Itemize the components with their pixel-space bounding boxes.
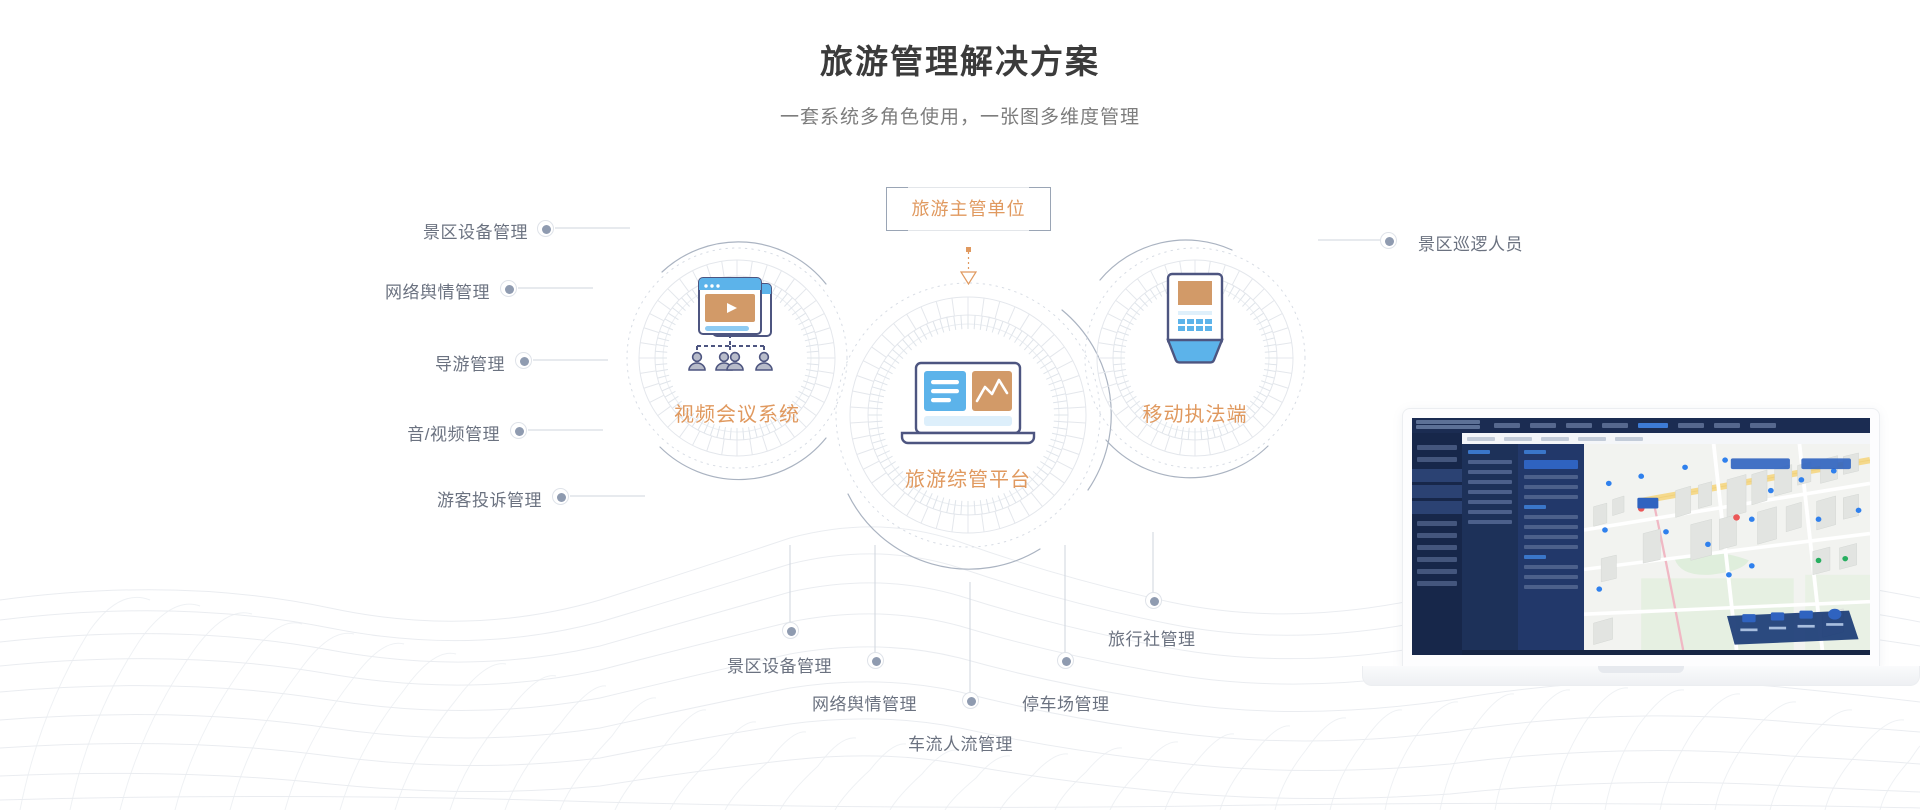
gov-to-platform-arrow — [961, 247, 976, 284]
bracket-top-right-icon — [1029, 187, 1051, 209]
gov-unit-box[interactable]: 旅游主管单位 — [886, 187, 1051, 231]
laptop-lid — [1402, 408, 1880, 670]
bottom-label-0[interactable]: 景区设备管理 — [727, 652, 832, 677]
left-label-3[interactable]: 音/视频管理 — [180, 420, 500, 445]
video-window-icon — [689, 278, 772, 370]
mock-sidebar — [1412, 433, 1462, 655]
left-dot-4[interactable] — [552, 488, 569, 505]
mock-logo — [1416, 420, 1480, 431]
gov-unit-label: 旅游主管单位 — [912, 199, 1026, 219]
ring-label-tourism-platform: 旅游综管平台 — [868, 463, 1068, 492]
laptop-mockup — [1362, 408, 1920, 738]
left-dot-1[interactable] — [500, 280, 517, 297]
left-dot-3[interactable] — [510, 422, 527, 439]
left-dot-2[interactable] — [515, 352, 532, 369]
bottom-dot-1[interactable] — [867, 652, 884, 669]
handheld-device-icon — [1168, 274, 1222, 362]
right-dot-0[interactable] — [1380, 232, 1397, 249]
bracket-bottom-left-icon — [886, 209, 908, 231]
left-label-0[interactable]: 景区设备管理 — [208, 218, 528, 243]
right-label-0[interactable]: 景区巡逻人员 — [1418, 230, 1523, 255]
dashboard-screenshot[interactable] — [1412, 418, 1870, 655]
bottom-dot-3[interactable] — [1057, 652, 1074, 669]
ring-label-mobile-enforcement: 移动执法端 — [1095, 398, 1295, 427]
bottom-label-1[interactable]: 网络舆情管理 — [812, 690, 917, 715]
page-root: 旅游管理解决方案 一套系统多角色使用，一张图多维度管理 — [0, 0, 1920, 810]
mock-3d-map[interactable] — [1584, 444, 1870, 650]
left-label-2[interactable]: 导游管理 — [185, 350, 505, 375]
left-dot-0[interactable] — [537, 220, 554, 237]
left-label-1[interactable]: 网络舆情管理 — [170, 278, 490, 303]
bottom-connector-lines — [790, 532, 1153, 700]
laptop-hinge-notch — [1598, 666, 1684, 673]
bracket-bottom-right-icon — [1029, 209, 1051, 231]
mock-topbar — [1412, 418, 1870, 433]
mock-tabbar — [1462, 433, 1870, 444]
ring-label-video-conference: 视频会议系统 — [637, 398, 837, 427]
left-label-4[interactable]: 游客投诉管理 — [222, 486, 542, 511]
bottom-label-2[interactable]: 车流人流管理 — [908, 730, 1013, 755]
bracket-top-left-icon — [886, 187, 908, 209]
bottom-label-3[interactable]: 停车场管理 — [1022, 690, 1110, 715]
bottom-dot-0[interactable] — [782, 622, 799, 639]
bottom-label-4[interactable]: 旅行社管理 — [1108, 625, 1196, 650]
laptop-dashboard-icon — [902, 363, 1034, 443]
left-connector-lines — [518, 228, 645, 496]
bottom-dot-4[interactable] — [1145, 592, 1162, 609]
box-edge-bottom — [908, 230, 1029, 231]
mock-filter-panel — [1462, 444, 1584, 650]
box-edge-top — [908, 187, 1029, 188]
mock-nav — [1494, 423, 1776, 428]
bottom-dot-2[interactable] — [962, 692, 979, 709]
